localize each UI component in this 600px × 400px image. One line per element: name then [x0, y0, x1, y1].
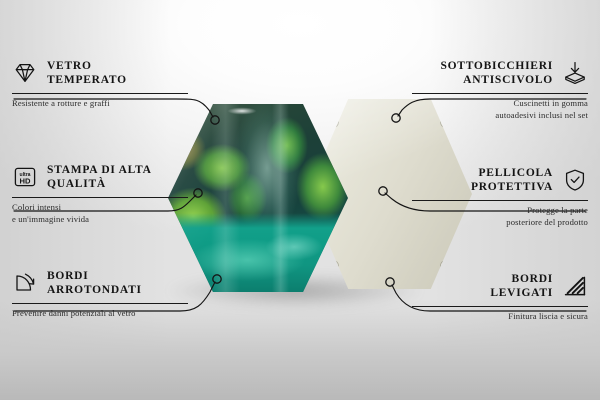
diagonal-lines-icon: [562, 273, 588, 299]
feature-callout-vetro-temperato: VETRO TEMPERATO Resistente a rotture e g…: [12, 56, 188, 110]
divider: [12, 303, 188, 304]
press-pad-icon: [562, 60, 588, 86]
glass-highlight: [222, 106, 262, 116]
divider: [412, 306, 588, 307]
feature-title: SOTTOBICCHIERI ANTISCIVOLO: [440, 59, 553, 87]
glass-reflection: [168, 104, 348, 292]
rubber-pad: [329, 118, 338, 127]
feature-title: BORDI ARROTONDATI: [47, 269, 142, 297]
feature-subtitle: Prevenire danni potenziali al vetro: [12, 308, 188, 320]
divider: [412, 200, 588, 201]
divider: [412, 93, 588, 94]
feature-subtitle: Resistente a rotture e graffi: [12, 98, 188, 110]
divider: [12, 197, 188, 198]
feature-callout-stampa-hd: ultra HD STAMPA DI ALTA QUALITÀ Colori i…: [12, 160, 188, 225]
rounded-corner-icon: [12, 270, 38, 296]
glass-reflection-streak: [272, 104, 288, 292]
feature-subtitle: Protegge la parte posteriore del prodott…: [412, 205, 588, 228]
feature-subtitle: Colori intensi e un'immagine vivida: [12, 202, 188, 225]
divider: [12, 93, 188, 94]
feature-subtitle: Cuscinetti in gomma autoadesivi inclusi …: [412, 98, 588, 121]
feature-title: BORDI LEVIGATI: [490, 272, 553, 300]
shield-check-icon: [562, 167, 588, 193]
feature-callout-bordi-arrotondati: BORDI ARROTONDATI Prevenire danni potenz…: [12, 266, 188, 320]
diamond-icon: [12, 60, 38, 86]
glass-reflection-streak: [211, 104, 240, 292]
feature-header: BORDI ARROTONDATI: [12, 266, 188, 300]
feature-callout-bordi-levigati: BORDI LEVIGATI Finitura liscia e sicura: [412, 269, 588, 323]
feature-title: PELLICOLA PROTETTIVA: [471, 166, 553, 194]
hexagon-printed-glass-panel: [168, 104, 348, 292]
feature-header: SOTTOBICCHIERI ANTISCIVOLO: [412, 56, 588, 90]
ultra-hd-icon: ultra HD: [12, 164, 38, 190]
feature-header: VETRO TEMPERATO: [12, 56, 188, 90]
feature-callout-sottobicchieri-antiscivolo: SOTTOBICCHIERI ANTISCIVOLO Cuscinetti in…: [412, 56, 588, 121]
feature-subtitle: Finitura liscia e sicura: [412, 311, 588, 323]
feature-header: ultra HD STAMPA DI ALTA QUALITÀ: [12, 160, 188, 194]
feature-title: STAMPA DI ALTA QUALITÀ: [47, 163, 152, 191]
feature-title: VETRO TEMPERATO: [47, 59, 127, 87]
feature-callout-pellicola-protettiva: PELLICOLA PROTETTIVA Protegge la parte p…: [412, 163, 588, 228]
svg-text:HD: HD: [20, 176, 31, 185]
feature-header: PELLICOLA PROTETTIVA: [412, 163, 588, 197]
infographic-canvas: VETRO TEMPERATO Resistente a rotture e g…: [0, 0, 600, 400]
feature-header: BORDI LEVIGATI: [412, 269, 588, 303]
